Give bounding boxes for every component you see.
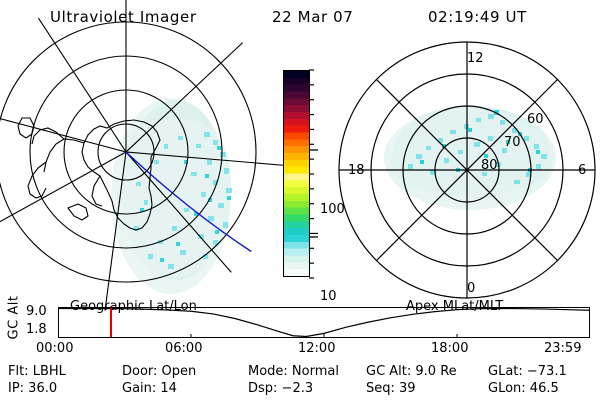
status-field-ip: IP: 36.0	[8, 381, 57, 396]
altitude-y-axis-label: GC Alt	[7, 291, 22, 345]
aurora-emission-geographic	[111, 98, 232, 294]
mlt-label-0: 0	[467, 281, 475, 296]
altitude-x-axis: 00:0006:0012:0018:0023:59	[0, 341, 600, 359]
status-field-gain: Gain: 14	[122, 381, 177, 396]
instrument-title: Ultraviolet Imager	[50, 8, 197, 26]
status-field-glat: GLat: −73.1	[488, 364, 567, 379]
apex-mlat-mlt-panel[interactable]: 12 6 0 18 60 70 80	[338, 40, 596, 298]
status-row: Flt: LBHLDoor: OpenMode: NormalGC Alt: 9…	[0, 364, 600, 381]
colorbar-label-10: 10	[320, 289, 337, 304]
status-field-flt: Flt: LBHL	[8, 364, 66, 379]
altitude-trace-svg	[58, 307, 590, 338]
observation-date: 22 Mar 07	[272, 8, 353, 26]
apex-plot-svg: 12 6 0 18 60 70 80	[338, 40, 596, 298]
geographic-plot-svg	[8, 40, 263, 295]
mlt-label-12: 12	[467, 51, 484, 66]
mlat-label-70: 70	[504, 135, 521, 150]
altitude-xtick-1: 06:00	[165, 341, 202, 356]
mlat-label-60: 60	[527, 112, 544, 127]
colorbar-ticks	[309, 69, 319, 279]
colorbar-gradient	[284, 71, 309, 276]
current-time-marker[interactable]	[110, 308, 112, 337]
status-field-door: Door: Open	[122, 364, 196, 379]
status-field-mode: Mode: Normal	[248, 364, 339, 379]
observation-time: 02:19:49 UT	[428, 8, 527, 26]
altitude-trace	[58, 309, 590, 337]
altitude-xtick-3: 18:00	[431, 341, 468, 356]
mlt-spokes	[339, 42, 595, 298]
mlt-label-6: 6	[578, 163, 586, 178]
status-field-glon: GLon: 46.5	[488, 381, 559, 396]
altitude-xtick-0: 00:00	[36, 341, 73, 356]
status-field-seq: Seq: 39	[366, 381, 416, 396]
status-field-gc-alt: GC Alt: 9.0 Re	[366, 364, 457, 379]
geographic-plot-panel[interactable]	[8, 40, 263, 295]
mlat-label-80: 80	[481, 158, 498, 173]
colorbar-gradient-box	[283, 70, 310, 277]
altitude-ytick-low: 1.8	[26, 322, 47, 337]
status-row: IP: 36.0Gain: 14Dsp: −2.3Seq: 39GLon: 46…	[0, 381, 600, 398]
altitude-xtick-2: 12:00	[298, 341, 335, 356]
header-bar: Ultraviolet Imager 22 Mar 07 02:19:49 UT	[0, 6, 600, 30]
altitude-ytick-high: 9.0	[26, 304, 47, 319]
status-field-dsp: Dsp: −2.3	[248, 381, 313, 396]
altitude-xtick-4: 23:59	[544, 341, 581, 356]
status-block: Flt: LBHLDoor: OpenMode: NormalGC Alt: 9…	[0, 364, 600, 400]
altitude-strip-chart[interactable]: GC Alt 9.0 1.8	[0, 306, 600, 340]
mlt-label-18: 18	[348, 163, 365, 178]
